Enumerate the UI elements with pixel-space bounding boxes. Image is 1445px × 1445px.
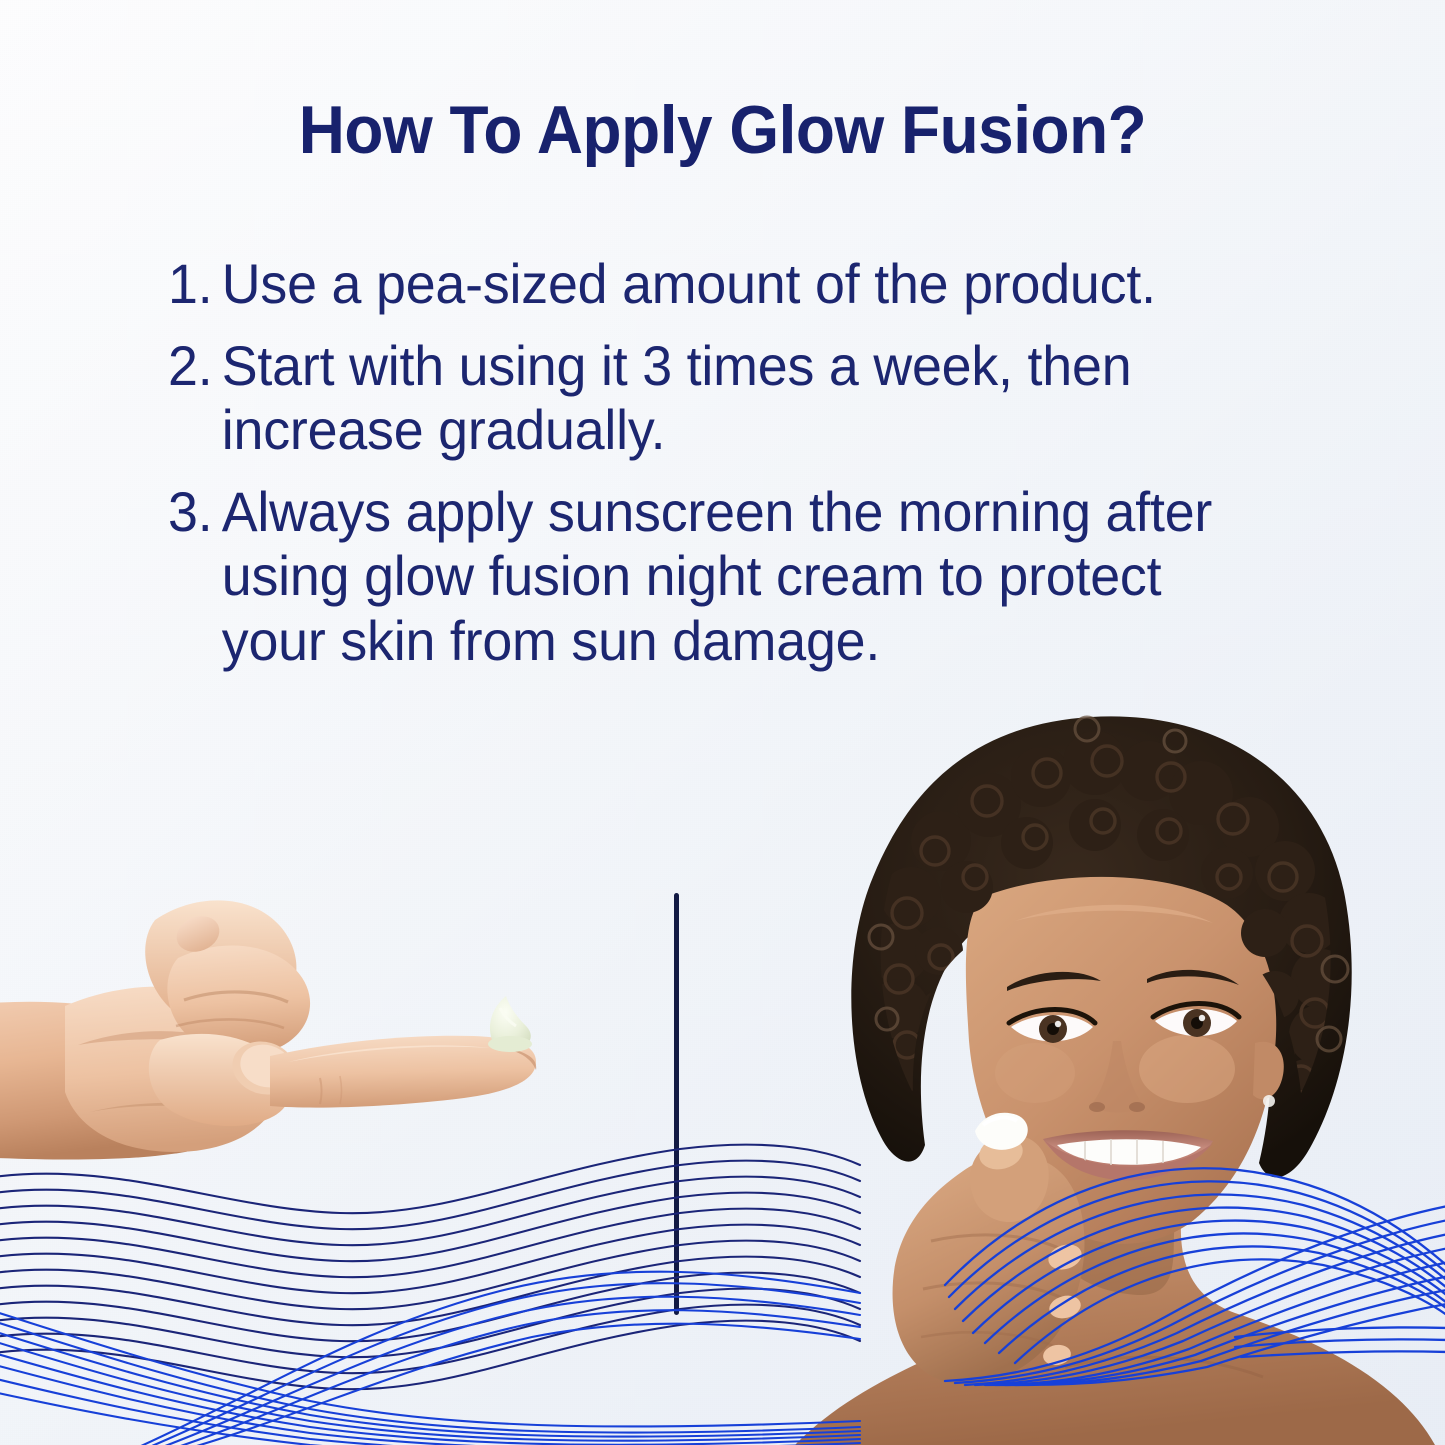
vertical-divider: [674, 893, 679, 1315]
instruction-list: 1. Use a pea-sized amount of the product…: [168, 252, 1283, 691]
product-usage-imagery: [0, 725, 1445, 1445]
list-item: 1. Use a pea-sized amount of the product…: [168, 252, 1238, 316]
list-item-number: 3.: [168, 480, 222, 544]
list-item-number: 1.: [168, 252, 222, 316]
cream-on-fingertip: [975, 1113, 1028, 1150]
hand-holding-cream-photo: [0, 830, 660, 1230]
page-title: How To Apply Glow Fusion?: [43, 96, 1401, 164]
list-item: 2. Start with using it 3 times a week, t…: [168, 334, 1238, 462]
list-item-text: Always apply sunscreen the morning after…: [222, 480, 1239, 672]
list-item-text: Start with using it 3 times a week, then…: [222, 334, 1239, 462]
cream-dollop-graphic: [488, 996, 532, 1052]
list-item: 3. Always apply sunscreen the morning af…: [168, 480, 1238, 672]
list-item-text: Use a pea-sized amount of the product.: [222, 252, 1239, 316]
poster-canvas: How To Apply Glow Fusion? 1. Use a pea-s…: [0, 0, 1445, 1445]
woman-applying-cream-photo: [735, 701, 1445, 1445]
list-item-number: 2.: [168, 334, 222, 398]
